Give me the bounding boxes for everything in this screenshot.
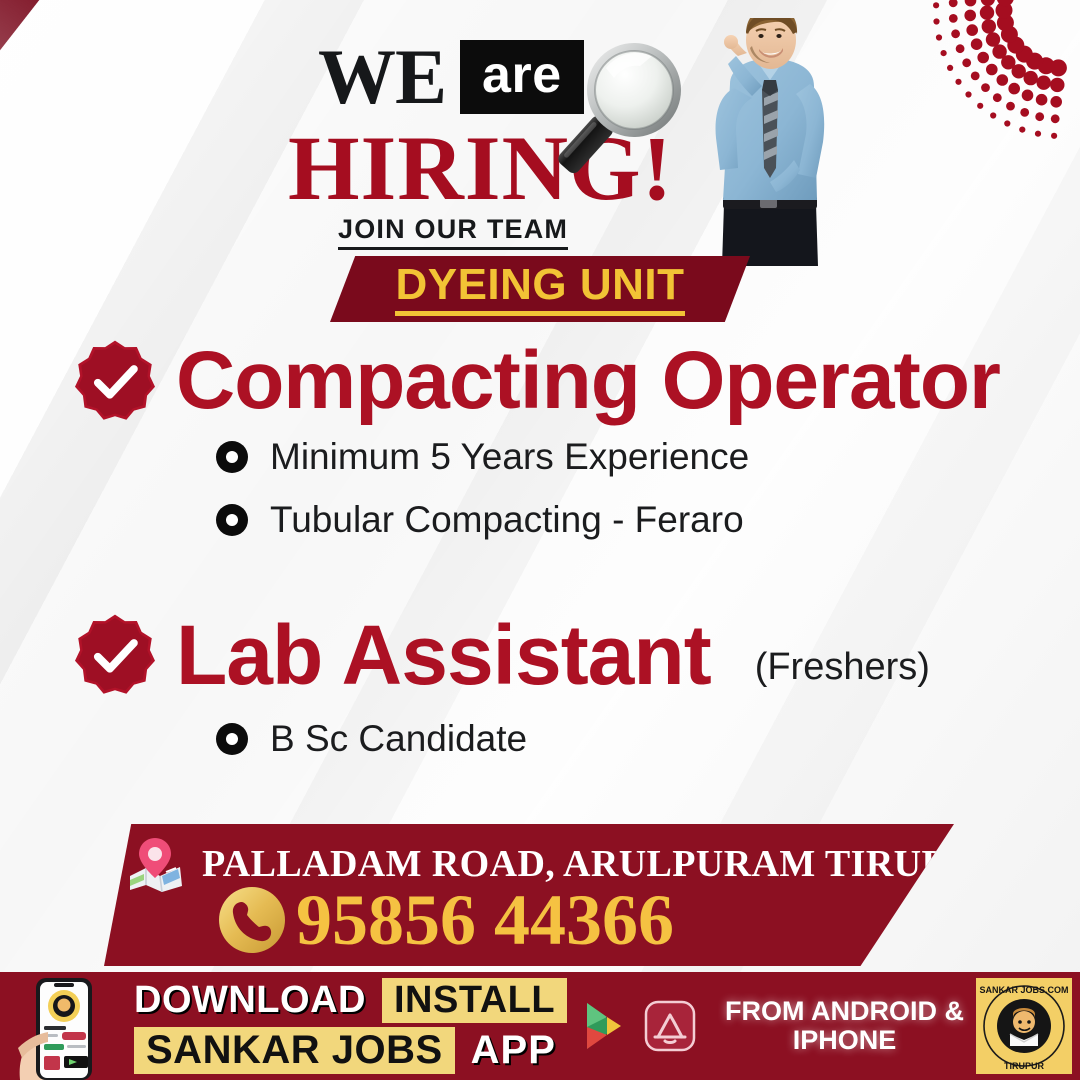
check-badge-icon xyxy=(72,612,158,698)
job-listing-compacting-operator: Compacting Operator Minimum 5 Years Expe… xyxy=(0,338,1080,564)
job-header: Compacting Operator xyxy=(0,338,1080,424)
sankar-jobs-logo: SANKAR JOBS.COM TIRUPUR xyxy=(976,978,1072,1074)
job-requirements: B Sc Candidate xyxy=(0,720,1080,757)
pointing-businessman-photo xyxy=(690,18,850,266)
job-listing-lab-assistant: Lab Assistant (Freshers) B Sc Candidate xyxy=(0,612,1080,783)
job-requirements: Minimum 5 Years Experience Tubular Compa… xyxy=(0,438,1080,538)
footer-text-block: DOWNLOAD INSTALL SANKAR JOBS APP xyxy=(134,978,567,1074)
join-our-team-text: JOIN OUR TEAM xyxy=(338,214,568,250)
app-store-icon[interactable] xyxy=(641,997,699,1055)
we-text: WE xyxy=(318,43,446,110)
requirement-item: B Sc Candidate xyxy=(216,720,1080,757)
we-are-row: WE are xyxy=(318,40,584,114)
download-label: DOWNLOAD xyxy=(134,979,366,1022)
job-note: (Freshers) xyxy=(755,646,930,698)
bullet-ring-icon xyxy=(216,723,248,755)
bullet-ring-icon xyxy=(216,504,248,536)
header: WE are HIRING! JOIN OUR TEAM xyxy=(0,18,1080,258)
brand-bottom-text: TIRUPUR xyxy=(1004,1061,1044,1071)
sankar-jobs-label: SANKAR JOBS xyxy=(134,1027,455,1074)
app-label: APP xyxy=(471,1028,556,1073)
from-android-iphone-label: FROM ANDROID & IPHONE xyxy=(713,997,976,1055)
hiring-poster: WE are HIRING! JOIN OUR TEAM xyxy=(0,0,1080,1080)
hand-holding-phone-photo xyxy=(14,972,118,1080)
job-header: Lab Assistant (Freshers) xyxy=(0,612,1080,698)
requirement-item: Minimum 5 Years Experience xyxy=(216,438,1080,475)
requirement-item: Tubular Compacting - Feraro xyxy=(216,501,1080,538)
unit-label: DYEING UNIT xyxy=(395,262,684,315)
job-title: Compacting Operator xyxy=(176,340,1000,422)
phone-handset-icon xyxy=(216,884,288,956)
google-play-icon[interactable] xyxy=(575,997,633,1055)
install-label: INSTALL xyxy=(382,978,567,1023)
requirement-text: Minimum 5 Years Experience xyxy=(270,438,749,475)
phone-row[interactable]: 95856 44366 xyxy=(216,884,674,956)
brand-top-text: SANKAR JOBS.COM xyxy=(979,985,1068,995)
unit-banner: DYEING UNIT xyxy=(330,256,750,322)
check-badge-icon xyxy=(72,338,158,424)
requirement-text: Tubular Compacting - Feraro xyxy=(270,501,744,538)
bullet-ring-icon xyxy=(216,441,248,473)
contact-banner: PALLADAM ROAD, ARULPURAM TIRUPUR 95856 4… xyxy=(104,824,954,966)
map-pin-icon xyxy=(126,836,188,892)
requirement-text: B Sc Candidate xyxy=(270,720,527,757)
job-title: Lab Assistant xyxy=(176,613,711,697)
app-download-bar: DOWNLOAD INSTALL SANKAR JOBS APP xyxy=(0,972,1080,1080)
phone-number: 95856 44366 xyxy=(296,884,674,956)
